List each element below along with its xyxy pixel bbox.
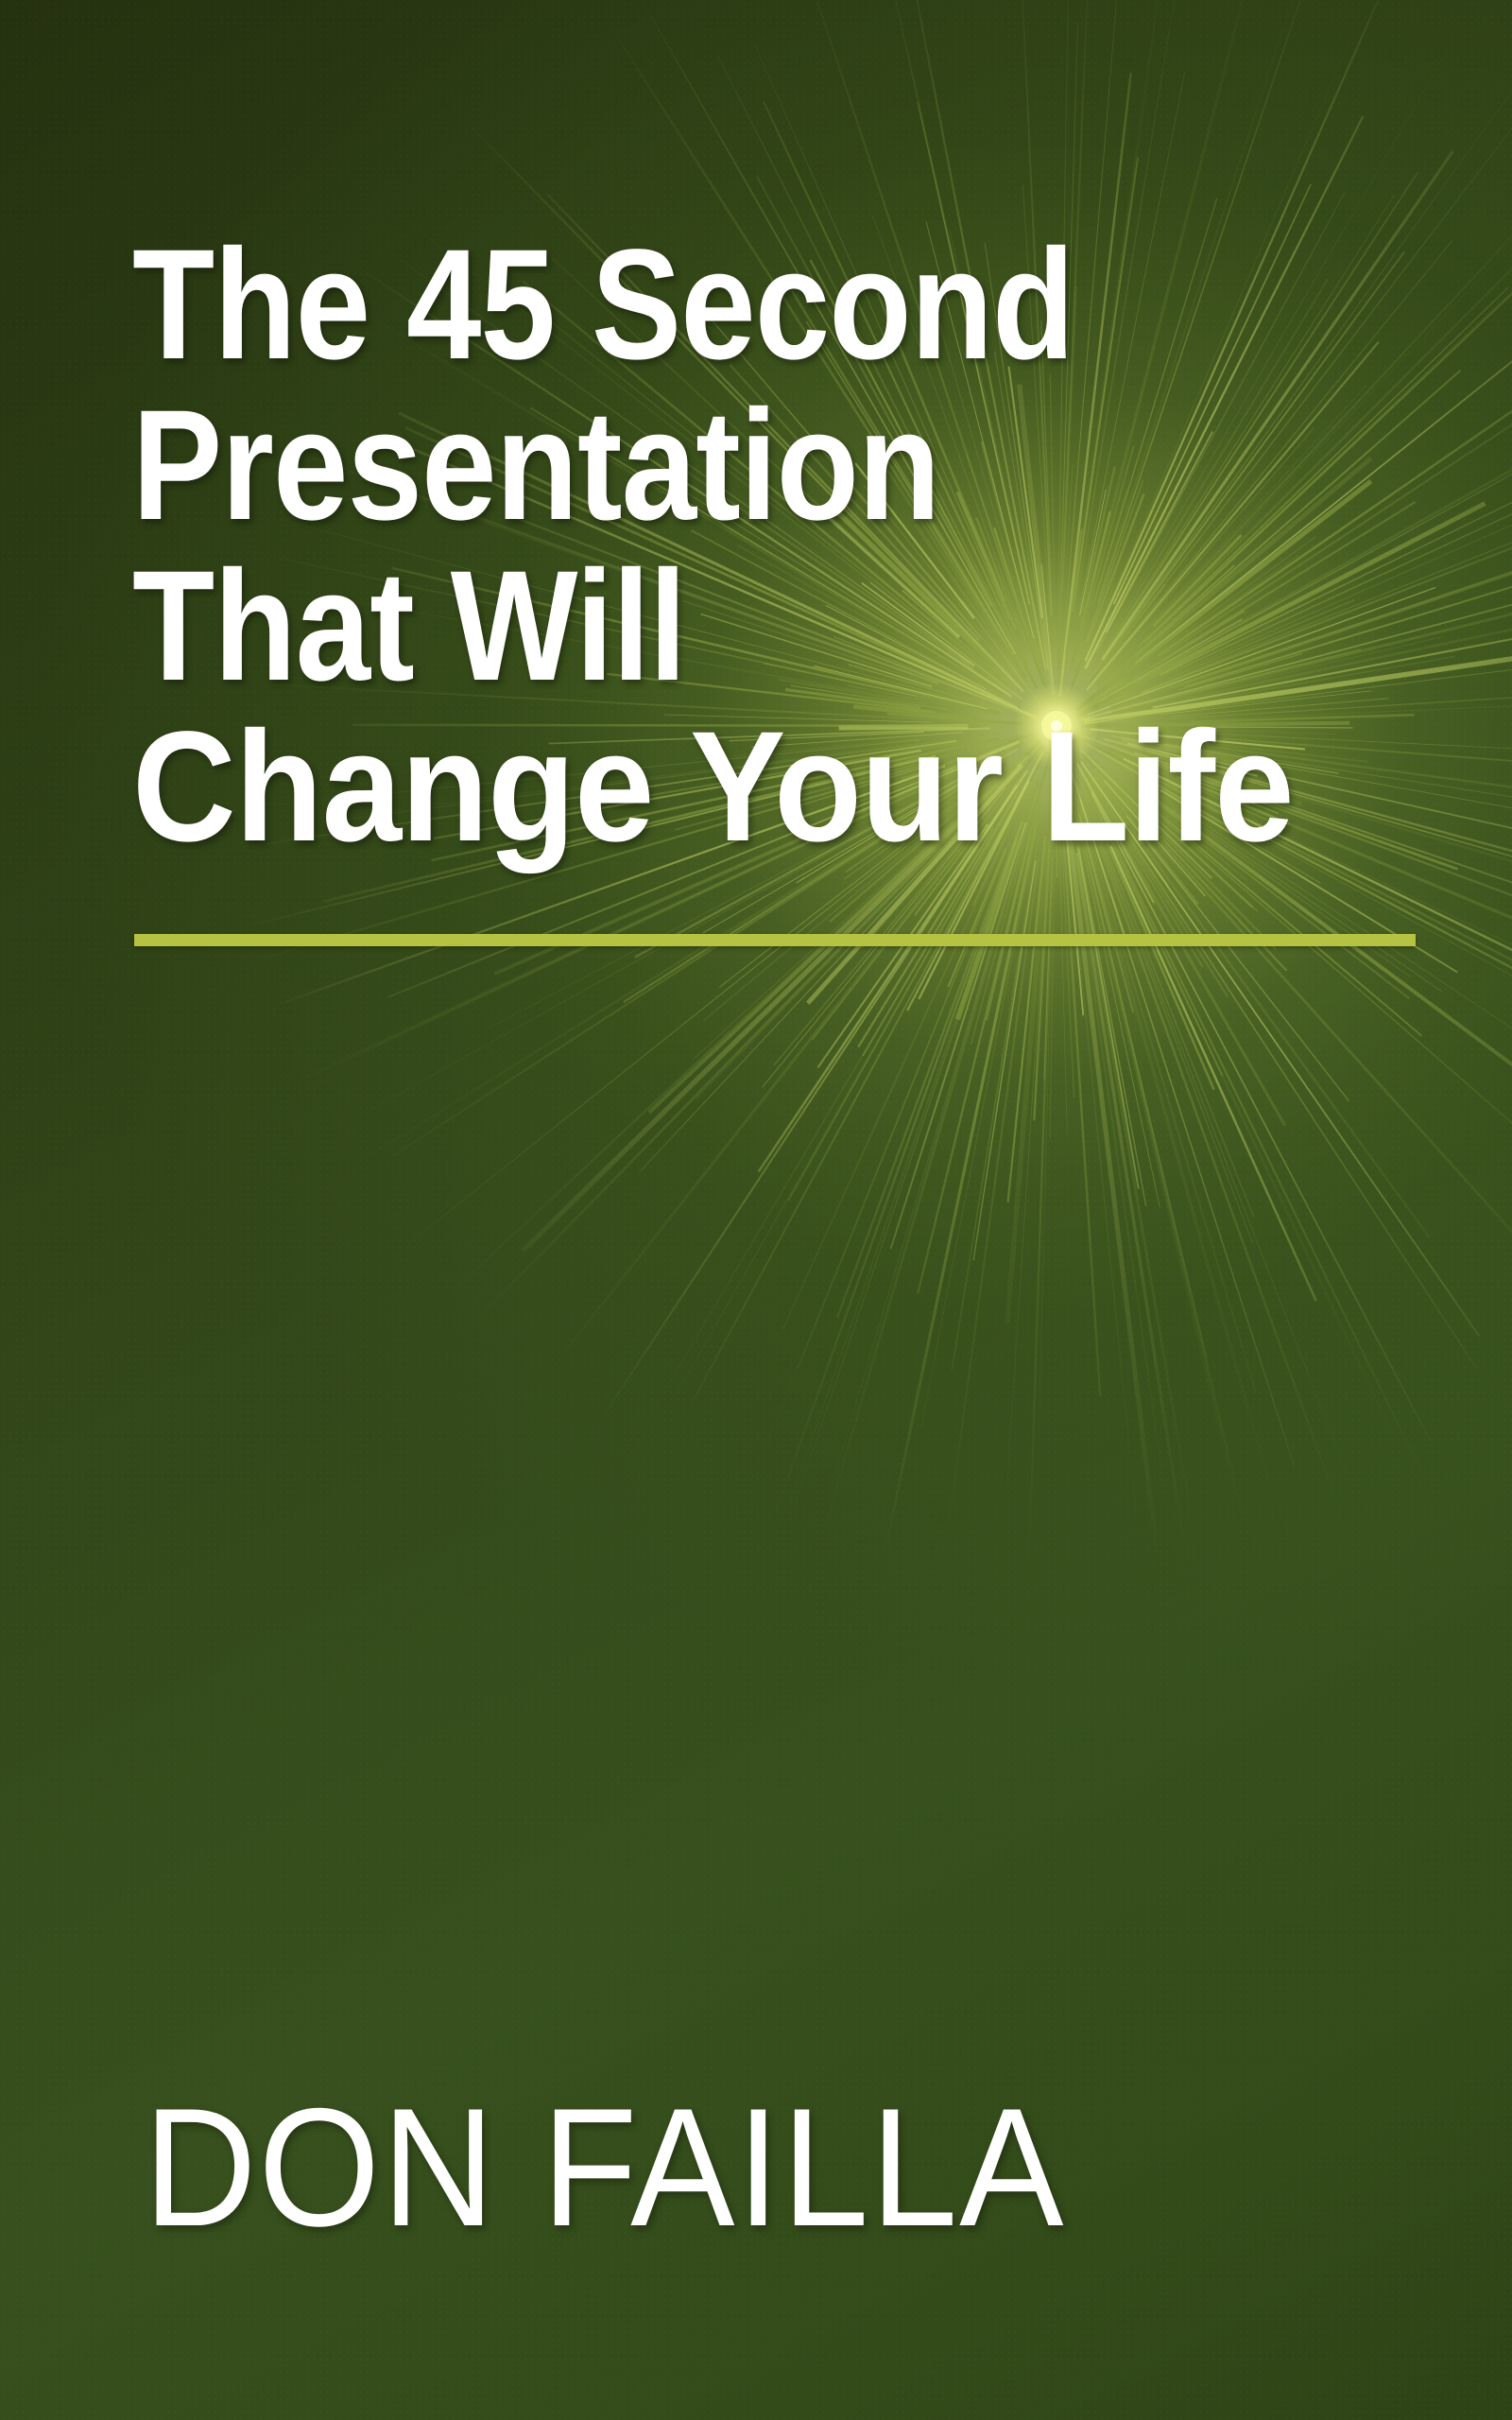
title-line-4: Change Your Life [132, 707, 1317, 868]
title-line-3: That Will [132, 546, 1246, 707]
page-title: The 45 Second Presentation That Will Cha… [132, 225, 1427, 868]
author-name: DON FAILLA [144, 2078, 1065, 2257]
title-underline [134, 934, 1416, 946]
title-line-1: The 45 Second [132, 225, 1246, 386]
title-line-2: Presentation [132, 386, 1246, 546]
book-cover: The 45 Second Presentation That Will Cha… [0, 0, 1512, 2420]
